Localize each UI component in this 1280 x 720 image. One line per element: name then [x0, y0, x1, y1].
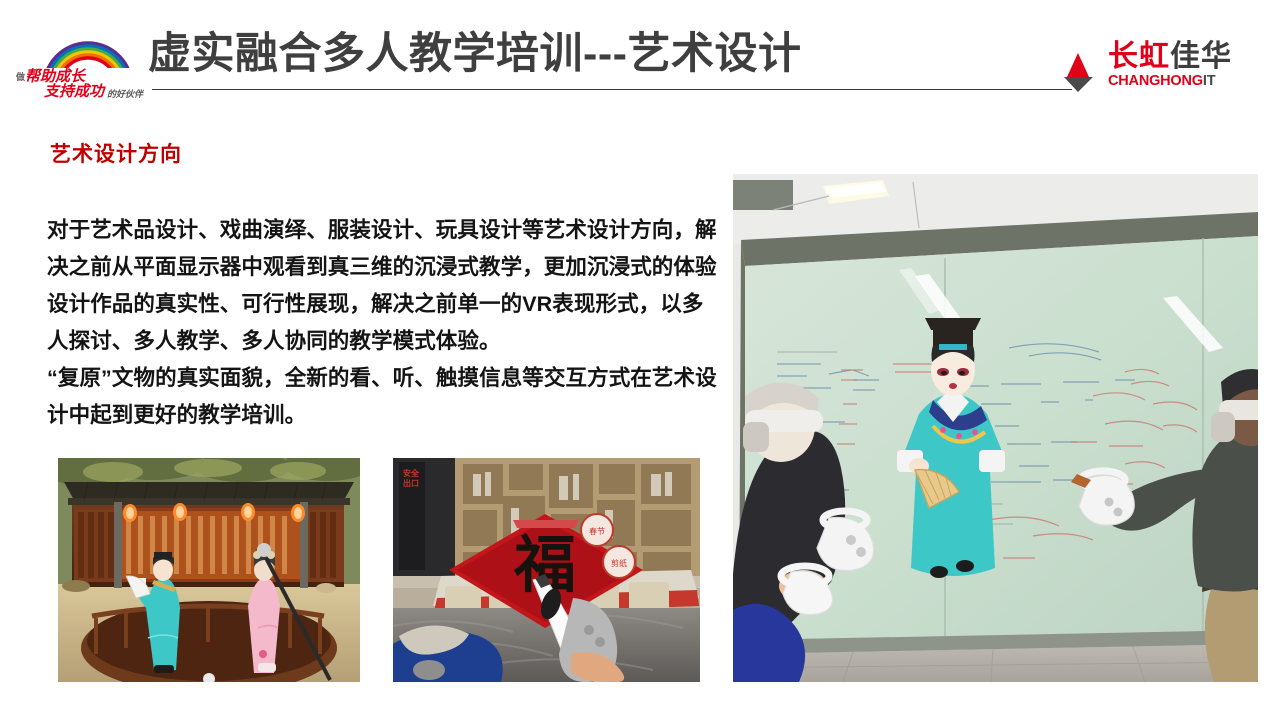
svg-text:剪纸: 剪纸 [611, 558, 627, 568]
company-slogan-logo: 做 帮助成长 支持成功 的好伙伴 [14, 28, 150, 98]
svg-text:安全: 安全 [403, 468, 420, 478]
svg-text:春节: 春节 [589, 526, 605, 536]
body-paragraph-1: 对于艺术品设计、戏曲演绎、服装设计、玩具设计等艺术设计方向，解决之前从平面显示器… [47, 212, 719, 360]
slide-canvas: 做 帮助成长 支持成功 的好伙伴 虚实融合多人教学培训---艺术设计 长虹佳华 … [0, 0, 1280, 720]
figure-classroom-mixed-reality [733, 174, 1258, 682]
triangle-marker-icon [1056, 50, 1100, 94]
figure-opera-courtyard-vr [58, 458, 360, 682]
slide-header: 做 帮助成长 支持成功 的好伙伴 虚实融合多人教学培训---艺术设计 长虹佳华 … [0, 0, 1280, 110]
body-copy: 对于艺术品设计、戏曲演绎、服装设计、玩具设计等艺术设计方向，解决之前从平面显示器… [47, 212, 719, 434]
body-paragraph-2: “复原”文物的真实面貌，全新的看、听、触摸信息等交互方式在艺术设计中起到更好的教… [47, 360, 719, 434]
brand-cn-dark: 佳华 [1170, 40, 1232, 73]
slogan-suffix: 的好伙伴 [107, 89, 145, 98]
brand-en-red: CHANGHONG [1108, 73, 1203, 89]
brand-en-dark: IT [1203, 73, 1216, 89]
brand-cn-red: 长虹 [1108, 40, 1170, 73]
section-heading: 艺术设计方向 [50, 138, 182, 168]
figure-fu-banner-mr: 安全 出口 [393, 458, 700, 682]
brand-name-cn: 长虹佳华 [1108, 42, 1258, 72]
changhong-it-logo: 长虹佳华 CHANGHONGIT [1108, 42, 1258, 92]
header-divider-rule [152, 89, 1072, 90]
brand-name-en: CHANGHONGIT [1108, 73, 1258, 89]
slogan-line-2: 支持成功 [44, 83, 106, 98]
page-title: 虚实融合多人教学培训---艺术设计 [148, 27, 1048, 81]
svg-text:出口: 出口 [403, 478, 419, 488]
